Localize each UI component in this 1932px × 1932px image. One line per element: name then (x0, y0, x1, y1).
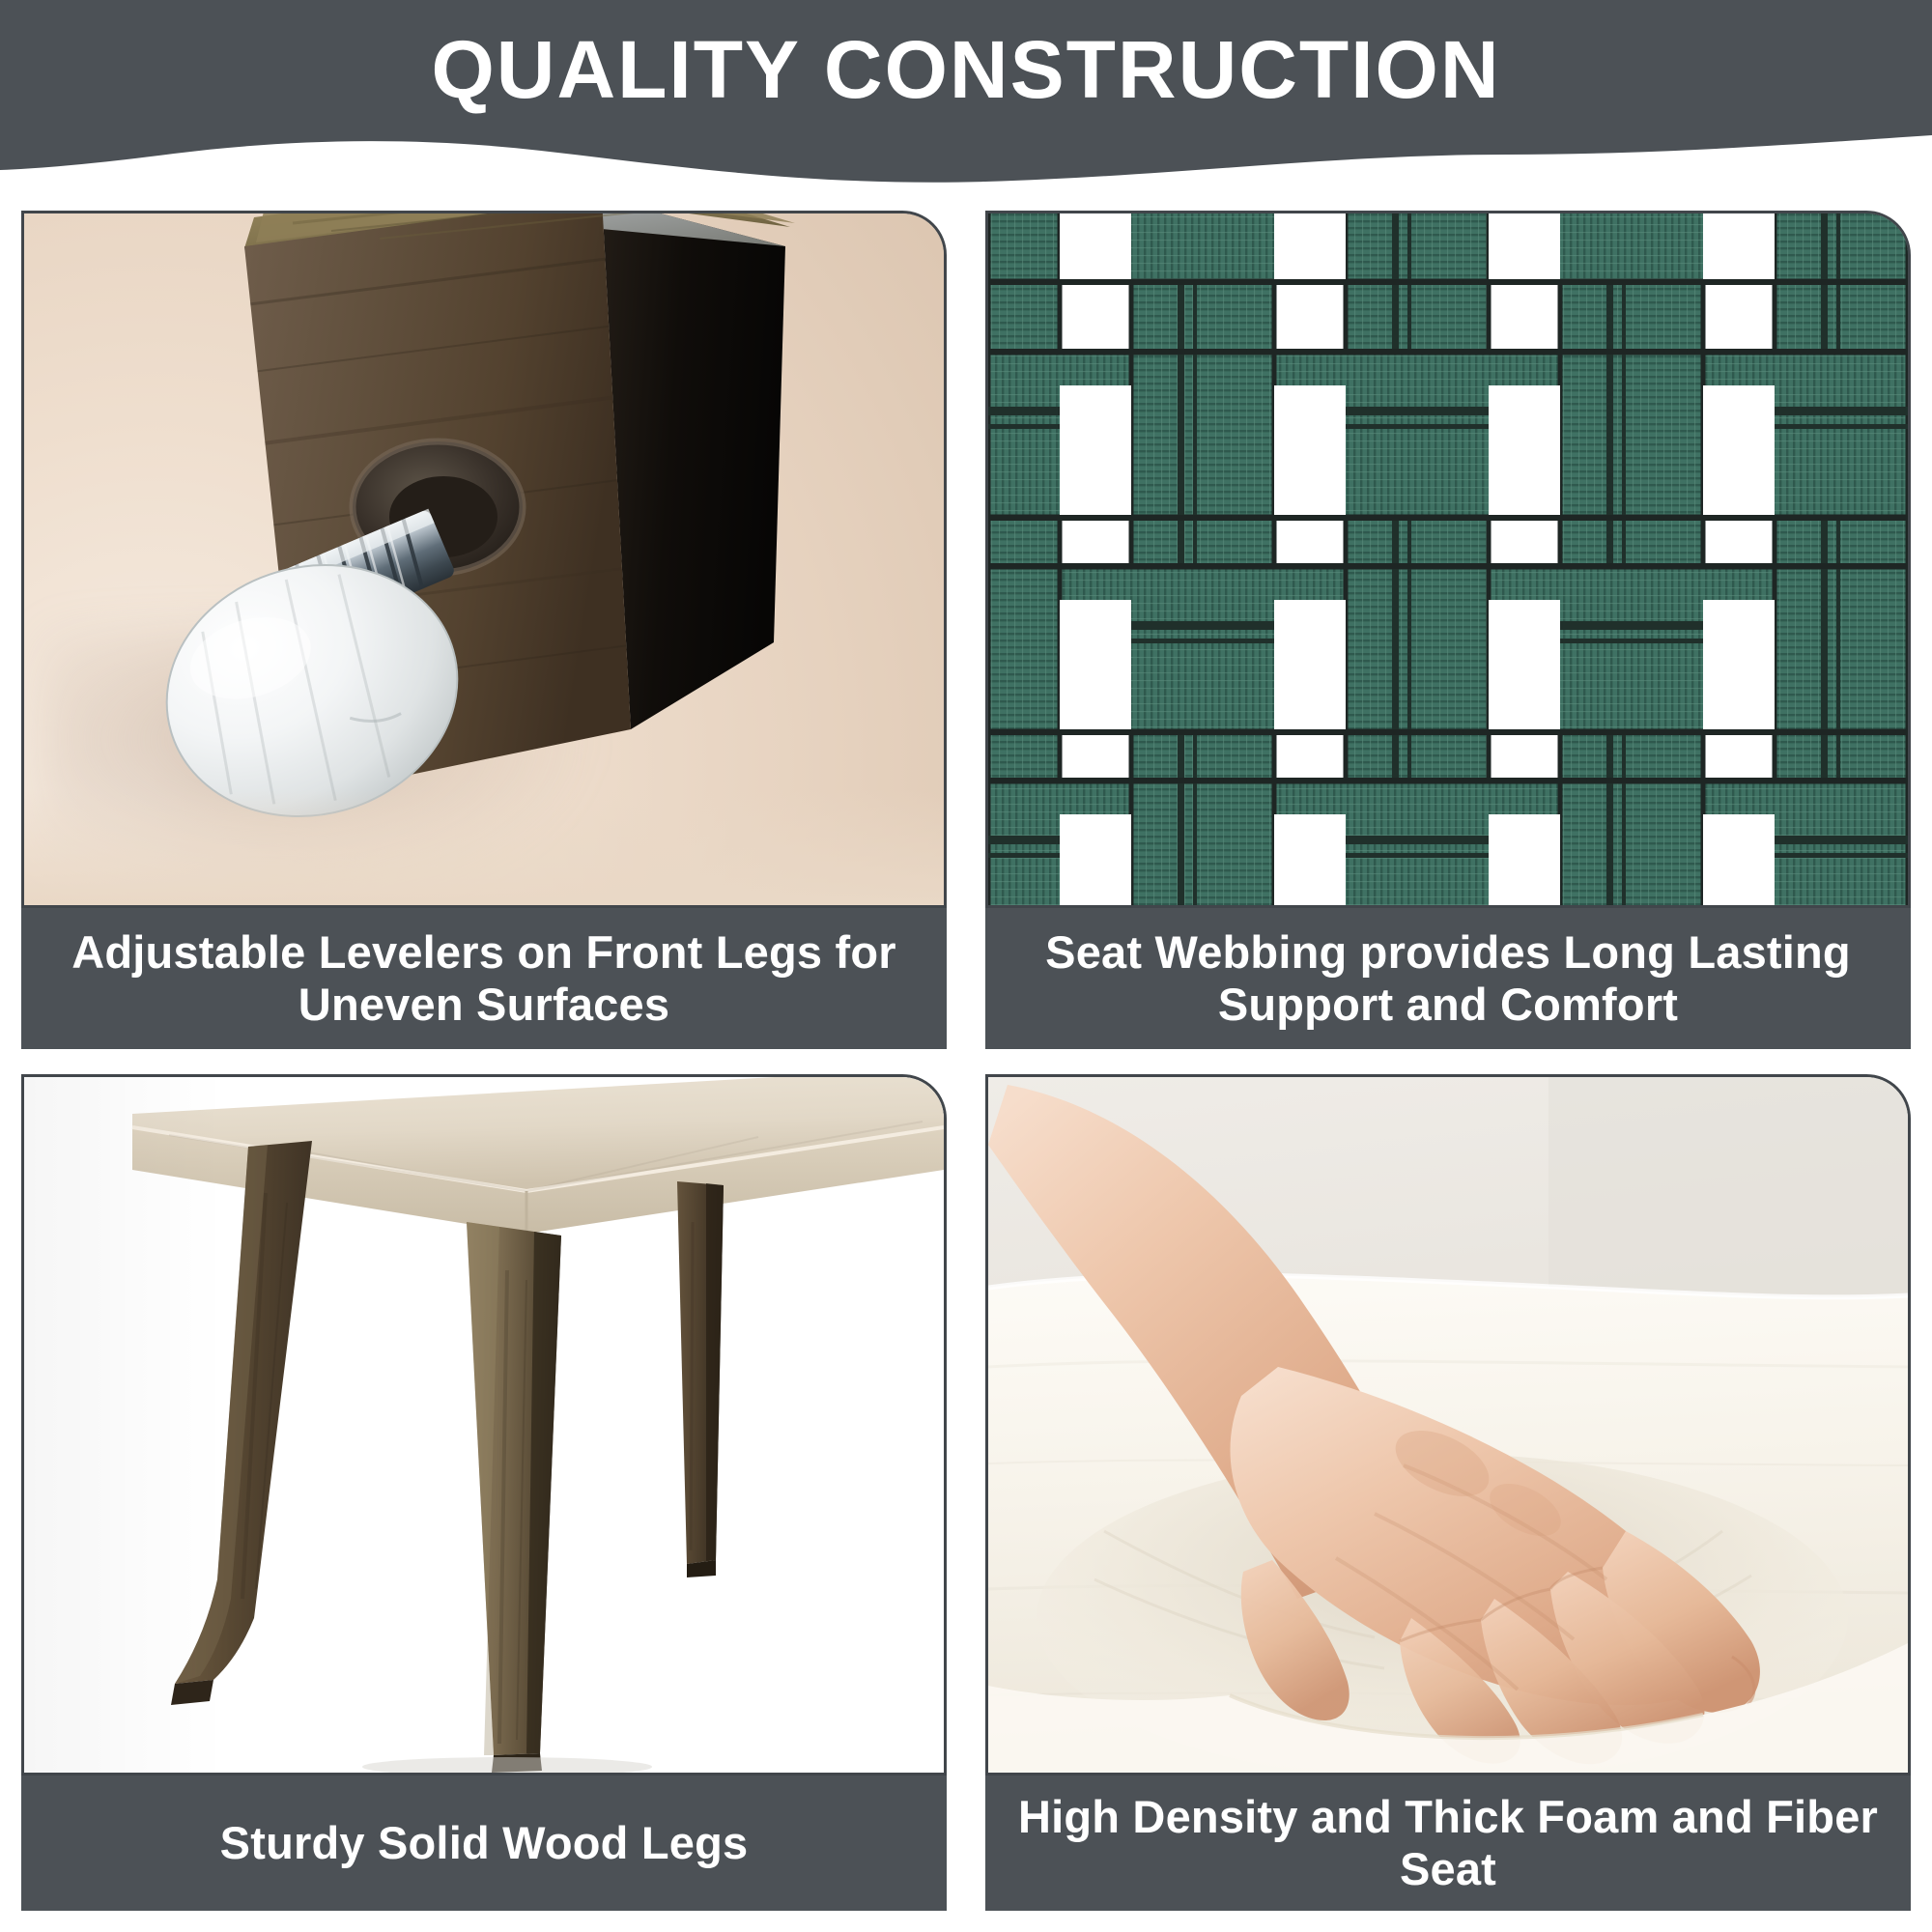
caption-high-density-foam: High Density and Thick Foam and Fiber Se… (985, 1776, 1911, 1911)
feature-grid: Adjustable Levelers on Front Legs for Un… (21, 211, 1911, 1913)
page-title: QUALITY CONSTRUCTION (0, 27, 1932, 112)
hand-pressing-foam-illustration (988, 1077, 1908, 1773)
hand-press-foam-icon (985, 1074, 1911, 1776)
feature-card-solid-wood-legs: Sturdy Solid Wood Legs (21, 1074, 947, 1913)
page-header: QUALITY CONSTRUCTION (0, 0, 1932, 193)
leveler-screw-icon (21, 211, 947, 908)
caption-seat-webbing: Seat Webbing provides Long Lasting Suppo… (985, 908, 1911, 1049)
wood-leg-icon (21, 1074, 947, 1776)
caption-solid-wood-legs: Sturdy Solid Wood Legs (21, 1776, 947, 1911)
caption-adjustable-levelers: Adjustable Levelers on Front Legs for Un… (21, 908, 947, 1049)
feature-card-high-density-foam: High Density and Thick Foam and Fiber Se… (985, 1074, 1911, 1913)
webbing-weave-icon (985, 211, 1911, 908)
feature-card-seat-webbing: Seat Webbing provides Long Lasting Suppo… (985, 211, 1911, 1049)
feature-card-adjustable-levelers: Adjustable Levelers on Front Legs for Un… (21, 211, 947, 1049)
seat-webbing-illustration (988, 213, 1908, 905)
